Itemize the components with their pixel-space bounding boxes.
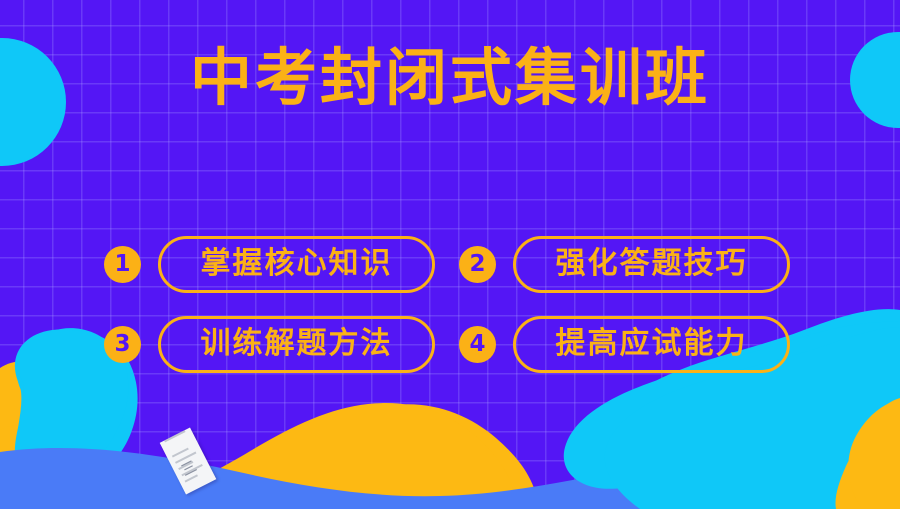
page-title: 中考封闭式集训班 xyxy=(0,47,900,109)
poster-content: 中考封闭式集训班 1 掌握核心知识 2 强化答题技巧 3 训练解题方法 xyxy=(0,0,900,509)
feature-pill-2[interactable]: 强化答题技巧 xyxy=(513,236,790,293)
feature-number-badge-4: 4 xyxy=(459,326,496,363)
feature-item-1[interactable]: 1 掌握核心知识 xyxy=(104,224,459,304)
feature-item-4[interactable]: 4 提高应试能力 xyxy=(459,304,814,384)
feature-list: 1 掌握核心知识 2 强化答题技巧 3 训练解题方法 4 xyxy=(104,224,804,384)
feature-label-4: 提高应试能力 xyxy=(556,329,748,359)
promo-poster: 三 中考封闭式集训班 1 掌握核心知识 2 强化答题技巧 3 训练解题方法 xyxy=(0,0,900,509)
feature-number-badge-2: 2 xyxy=(459,246,496,283)
feature-pill-3[interactable]: 训练解题方法 xyxy=(158,316,435,373)
feature-pill-4[interactable]: 提高应试能力 xyxy=(513,316,790,373)
feature-pill-1[interactable]: 掌握核心知识 xyxy=(158,236,435,293)
feature-number-badge-3: 3 xyxy=(104,326,141,363)
feature-item-2[interactable]: 2 强化答题技巧 xyxy=(459,224,814,304)
feature-number-badge-1: 1 xyxy=(104,246,141,283)
feature-item-3[interactable]: 3 训练解题方法 xyxy=(104,304,459,384)
feature-label-1: 掌握核心知识 xyxy=(201,249,393,279)
feature-label-3: 训练解题方法 xyxy=(201,329,393,359)
feature-label-2: 强化答题技巧 xyxy=(556,249,748,279)
